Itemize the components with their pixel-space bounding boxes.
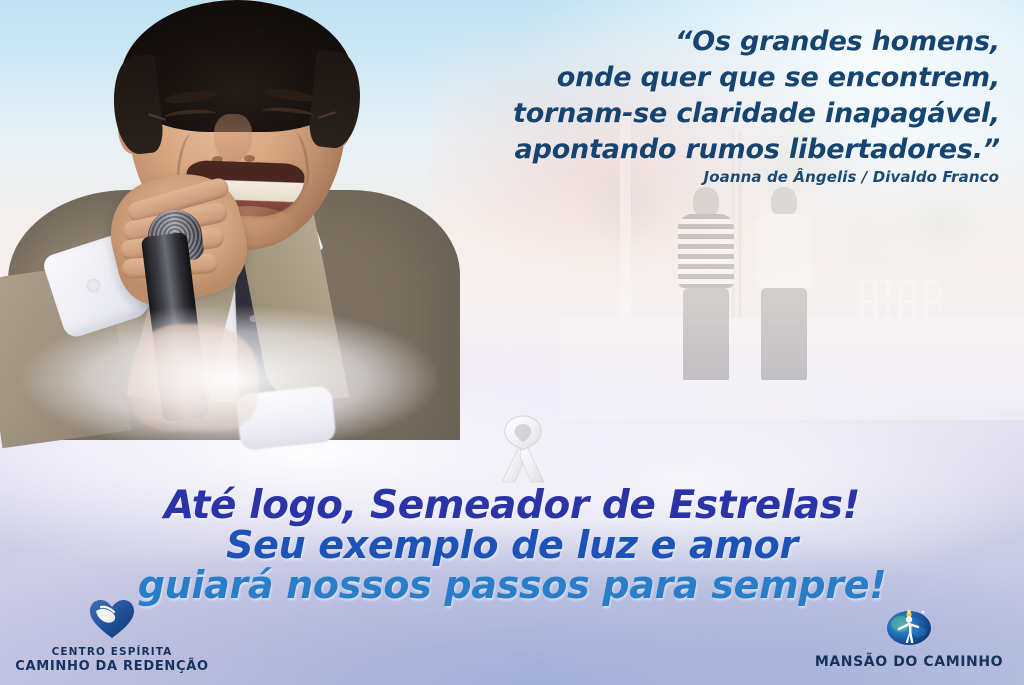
ground-path	[560, 358, 1024, 420]
quote-line-1: “Os grandes homens,	[440, 24, 1000, 60]
nostril-right	[244, 155, 255, 162]
figure-head	[693, 187, 719, 217]
figure-torso	[678, 214, 734, 288]
quote-attribution: Joanna de Ângelis / Divaldo Franco	[439, 168, 999, 186]
logo-left-line-2: CAMINHO DA REDENÇÃO	[12, 659, 212, 675]
globe-figure-flame-icon	[804, 603, 1014, 651]
gate-icon	[860, 280, 940, 358]
cloud-glow-under-portrait	[0, 284, 500, 474]
portrait-divaldo-franco	[0, 0, 470, 424]
headline-block: Até logo, Semeador de Estrelas! Seu exem…	[0, 486, 1024, 606]
figure-legs	[761, 288, 807, 380]
garden-wall	[560, 318, 1024, 358]
logo-left-line-1: CENTRO ESPÍRITA	[12, 646, 212, 659]
figure-head	[771, 187, 797, 217]
headline-line-2: Seu exemplo de luz e amor	[0, 526, 1024, 566]
walking-figure-plain	[756, 187, 812, 380]
quote-text: “Os grandes homens, onde quer que se enc…	[440, 24, 1000, 168]
white-mourning-ribbon-icon	[488, 412, 558, 484]
figure-torso	[756, 214, 812, 288]
memorial-poster: “Os grandes homens, onde quer que se enc…	[0, 0, 1024, 685]
quote-line-4: apontando rumos libertadores.”	[440, 132, 1000, 168]
logo-centro-espirita: CENTRO ESPÍRITA CAMINHO DA REDENÇÃO	[12, 599, 212, 675]
quote-line-3: tornam-se claridade inapagável,	[440, 96, 1000, 132]
walking-figure-striped	[678, 187, 734, 380]
hair-side-right	[307, 50, 365, 150]
heart-with-hands-icon	[12, 599, 212, 643]
quote-line-2: onde quer que se encontrem,	[440, 60, 1000, 96]
headline-line-1: Até logo, Semeador de Estrelas!	[0, 486, 1024, 526]
figure-legs	[683, 288, 729, 380]
logo-right-line-2: MANSÃO DO CAMINHO	[804, 654, 1014, 672]
logo-mansao-do-caminho: MANSÃO DO CAMINHO	[804, 603, 1014, 672]
